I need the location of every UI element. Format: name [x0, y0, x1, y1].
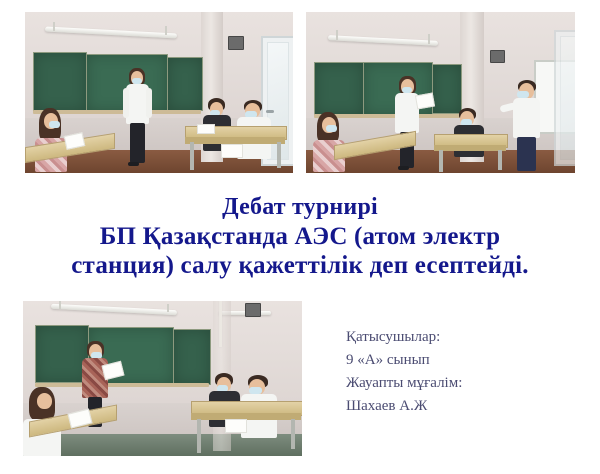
desk-leg — [190, 142, 194, 170]
face-mask — [49, 121, 60, 128]
info-class: 9 «А» сынып — [346, 349, 462, 372]
desk-leg — [197, 419, 201, 453]
light-brace — [59, 301, 61, 309]
title-line-2: БП Қазақстанда АЭС (атом электр — [0, 222, 600, 251]
wall-speaker — [245, 303, 261, 317]
chalkboard-right — [432, 64, 462, 114]
person-presenter — [392, 76, 426, 172]
face-mask — [326, 125, 337, 132]
wall-speaker — [490, 50, 505, 63]
torso — [513, 98, 540, 138]
light-brace — [336, 30, 338, 40]
classroom-scene-3 — [23, 301, 302, 456]
light-brace — [428, 34, 430, 44]
shoe — [128, 162, 139, 166]
face-mask — [249, 387, 262, 394]
chalkboard-right — [173, 329, 211, 385]
wall-speaker — [228, 36, 244, 50]
desk-right-edge — [185, 137, 285, 144]
presentation-slide: Дебат турнирі БП Қазақстанда АЭС (атом э… — [0, 0, 600, 474]
person-presenter — [121, 68, 155, 168]
chalkboard-left — [33, 52, 87, 112]
classroom-scene-1 — [25, 12, 293, 173]
chalkboard-right — [167, 57, 203, 111]
legs — [130, 123, 145, 163]
desk-leg — [291, 419, 295, 449]
arm-right — [146, 88, 152, 118]
door-glass — [560, 36, 575, 160]
slide-title: Дебат турнирі БП Қазақстанда АЭС (атом э… — [0, 193, 600, 280]
head — [37, 393, 52, 409]
desk-mid-edge — [434, 145, 506, 151]
paper-sheet — [221, 144, 243, 158]
info-participants-label: Қатысушылар: — [346, 326, 462, 349]
photo-top-right — [306, 12, 575, 173]
legs — [517, 137, 536, 171]
person-presenter — [79, 341, 115, 411]
photo-bottom-left — [23, 301, 302, 456]
classroom-scene-2 — [306, 12, 575, 173]
desk-leg — [439, 150, 443, 172]
paper-sheet — [225, 419, 247, 433]
light-brace — [165, 26, 167, 35]
participants-info: Қатысушылар: 9 «А» сынып Жауапты мұғалім… — [346, 326, 462, 418]
light-brace — [53, 22, 55, 31]
chalkboard-left — [314, 62, 364, 116]
light-brace — [167, 304, 169, 312]
photo-top-left — [25, 12, 293, 173]
classroom-door — [554, 30, 575, 166]
desk-leg — [277, 142, 281, 168]
arm-left — [123, 88, 129, 118]
info-teacher-name: Шахаев А.Ж — [346, 395, 462, 418]
title-line-1: Дебат турнирі — [0, 193, 600, 222]
face-mask — [517, 91, 529, 98]
paper-sheet — [197, 124, 215, 134]
person-speaker-right — [502, 80, 546, 172]
title-line-3: станция) салу қажеттілік деп есептейді. — [0, 251, 600, 280]
info-teacher-label: Жауапты мұғалім: — [346, 372, 462, 395]
shoe — [398, 166, 409, 170]
